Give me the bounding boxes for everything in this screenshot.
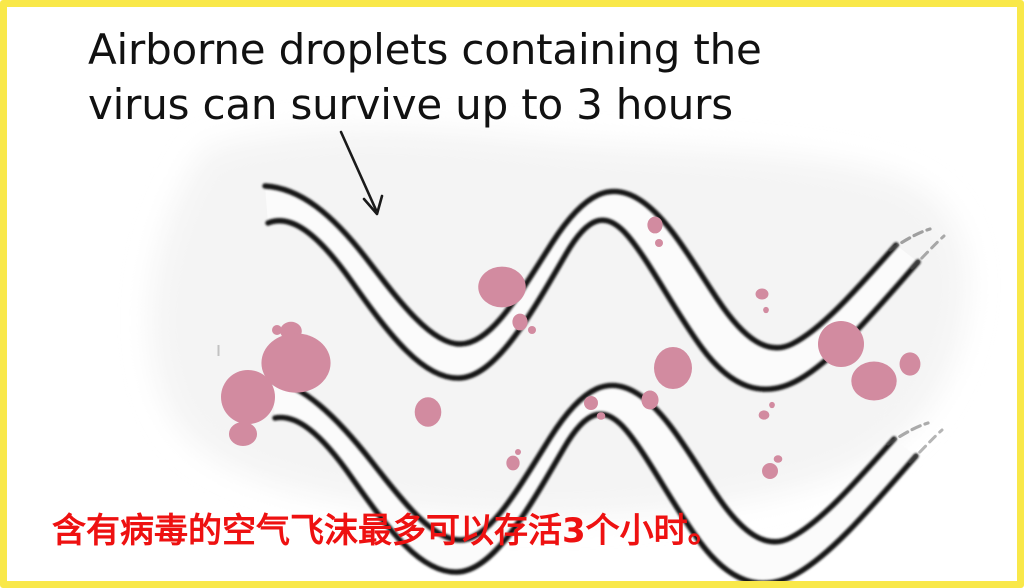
droplet <box>759 410 770 419</box>
droplet <box>647 217 662 234</box>
droplet <box>528 326 536 334</box>
droplet <box>221 370 275 424</box>
poster-root: Airborne droplets containing the virus c… <box>0 0 1024 588</box>
droplet <box>512 314 527 331</box>
droplet <box>641 391 658 410</box>
droplet <box>478 267 526 308</box>
droplet <box>597 412 606 419</box>
droplet <box>763 307 769 313</box>
tick-mark <box>218 345 220 356</box>
droplet <box>762 463 778 479</box>
droplet <box>415 397 442 426</box>
droplet <box>769 402 775 408</box>
droplet <box>515 449 521 455</box>
droplet <box>654 347 692 389</box>
droplet <box>774 455 783 462</box>
droplet <box>506 456 519 471</box>
droplet <box>756 288 769 299</box>
droplet <box>655 239 663 247</box>
droplet <box>818 321 864 367</box>
droplet <box>261 333 330 392</box>
droplet <box>584 396 598 410</box>
headline-text: Airborne droplets containing the virus c… <box>88 22 888 133</box>
droplet <box>851 362 896 401</box>
chinese-caption-text: 含有病毒的空气飞沫最多可以存活3个小时。 <box>52 513 722 550</box>
droplet <box>229 422 257 446</box>
droplet <box>900 352 921 375</box>
